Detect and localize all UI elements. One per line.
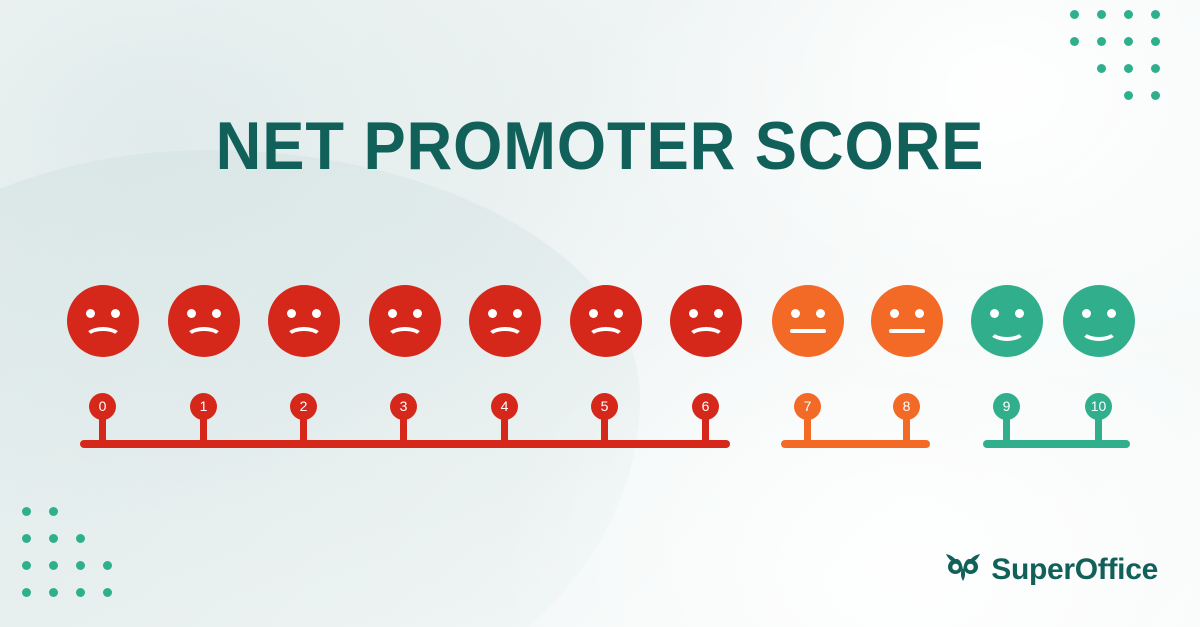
nps-scale: 012345678910 [0,0,1200,627]
decorative-dot [1151,64,1160,73]
decorative-dot [1124,37,1133,46]
decorative-dot-grid-top-right [1070,10,1178,118]
decorative-dot [22,534,31,543]
sad-face-icon[interactable] [168,285,240,357]
scale-baseline-passive [781,440,930,448]
decorative-dot-empty [1070,91,1079,100]
happy-face-icon[interactable] [971,285,1043,357]
scale-stem [300,414,307,446]
face-eye-left [86,309,95,318]
face-eye-right [111,309,120,318]
face-mouth-frown [84,327,122,349]
decorative-dot-empty [1097,91,1106,100]
scale-stem [99,414,106,446]
superoffice-logo: SuperOffice [944,552,1158,587]
scale-value-badge-2[interactable]: 2 [290,393,317,420]
scale-stem [1003,414,1010,446]
decorative-dot [1151,91,1160,100]
face-mouth-frown [386,327,424,349]
face-eye-right [816,309,825,318]
scale-baseline-promoter [983,440,1130,448]
face-eye-left [689,309,698,318]
face-eye-right [1015,309,1024,318]
decorative-dot [49,561,58,570]
decorative-dot [1124,10,1133,19]
scale-value-badge-0[interactable]: 0 [89,393,116,420]
scale-value-badge-3[interactable]: 3 [390,393,417,420]
decorative-dot [76,534,85,543]
decorative-dot-empty [103,534,112,543]
face-mouth-frown [486,327,524,349]
face-eye-right [312,309,321,318]
face-mouth-frown [285,327,323,349]
dot-row [1070,10,1178,19]
scale-stem [804,414,811,446]
face-eye-right [915,309,924,318]
decorative-dot-grid-bottom-left [22,507,130,615]
scale-value-badge-9[interactable]: 9 [993,393,1020,420]
sad-face-icon[interactable] [67,285,139,357]
sad-face-icon[interactable] [570,285,642,357]
dot-row [1070,91,1178,100]
decorative-dot [22,561,31,570]
decorative-dot-empty [1070,64,1079,73]
face-eye-left [890,309,899,318]
decorative-dot [1097,64,1106,73]
decorative-dot [1124,64,1133,73]
scale-stem [501,414,508,446]
decorative-dot [1097,10,1106,19]
dot-row [1070,37,1178,46]
decorative-dot [49,588,58,597]
scale-stem [400,414,407,446]
scale-value-badge-6[interactable]: 6 [692,393,719,420]
scale-value-badge-1[interactable]: 1 [190,393,217,420]
face-eye-right [1107,309,1116,318]
logo-wordmark: SuperOffice [991,553,1158,587]
face-eye-left [287,309,296,318]
face-mouth-frown [185,327,223,349]
scale-value-badge-7[interactable]: 7 [794,393,821,420]
decorative-dot [1124,91,1133,100]
decorative-dot [22,507,31,516]
dot-row [22,561,130,570]
decorative-dot [76,588,85,597]
face-mouth-smile [1080,319,1118,341]
decorative-dot [103,588,112,597]
face-eye-left [1082,309,1091,318]
face-eye-right [614,309,623,318]
face-eye-left [791,309,800,318]
decorative-dot [49,507,58,516]
scale-value-badge-5[interactable]: 5 [591,393,618,420]
neutral-face-icon[interactable] [772,285,844,357]
face-mouth-frown [687,327,725,349]
sad-face-icon[interactable] [268,285,340,357]
decorative-dot [1070,37,1079,46]
scale-value-badge-10[interactable]: 10 [1085,393,1112,420]
sad-face-icon[interactable] [469,285,541,357]
sad-face-icon[interactable] [670,285,742,357]
scale-stem [200,414,207,446]
decorative-dot [22,588,31,597]
dot-row [22,507,130,516]
decorative-dot-empty [103,507,112,516]
face-eye-right [714,309,723,318]
face-mouth-smile [988,319,1026,341]
face-mouth-frown [587,327,625,349]
scale-stem [1095,414,1102,446]
face-eye-left [589,309,598,318]
face-eye-left [187,309,196,318]
scale-value-badge-4[interactable]: 4 [491,393,518,420]
scale-baseline-detractor [80,440,730,448]
face-mouth-flat [790,329,826,333]
face-mouth-flat [889,329,925,333]
scale-stem [601,414,608,446]
decorative-dot [1097,37,1106,46]
decorative-dot [1151,37,1160,46]
decorative-dot [76,561,85,570]
scale-stem [903,414,910,446]
dot-row [1070,64,1178,73]
face-eye-left [990,309,999,318]
dot-row [22,534,130,543]
decorative-dot [103,561,112,570]
decorative-dot [1151,10,1160,19]
infographic-canvas: NET PROMOTER SCORE 012345678910 SuperOff… [0,0,1200,627]
sad-face-icon[interactable] [369,285,441,357]
owl-icon [944,552,982,587]
face-eye-right [212,309,221,318]
dot-row [22,588,130,597]
face-eye-right [413,309,422,318]
scale-stem [702,414,709,446]
decorative-dot [1070,10,1079,19]
face-eye-right [513,309,522,318]
background-shape-1 [0,0,660,530]
face-eye-left [488,309,497,318]
decorative-dot [49,534,58,543]
scale-value-badge-8[interactable]: 8 [893,393,920,420]
happy-face-icon[interactable] [1063,285,1135,357]
face-eye-left [388,309,397,318]
neutral-face-icon[interactable] [871,285,943,357]
decorative-dot-empty [76,507,85,516]
page-title: NET PROMOTER SCORE [42,112,1158,180]
